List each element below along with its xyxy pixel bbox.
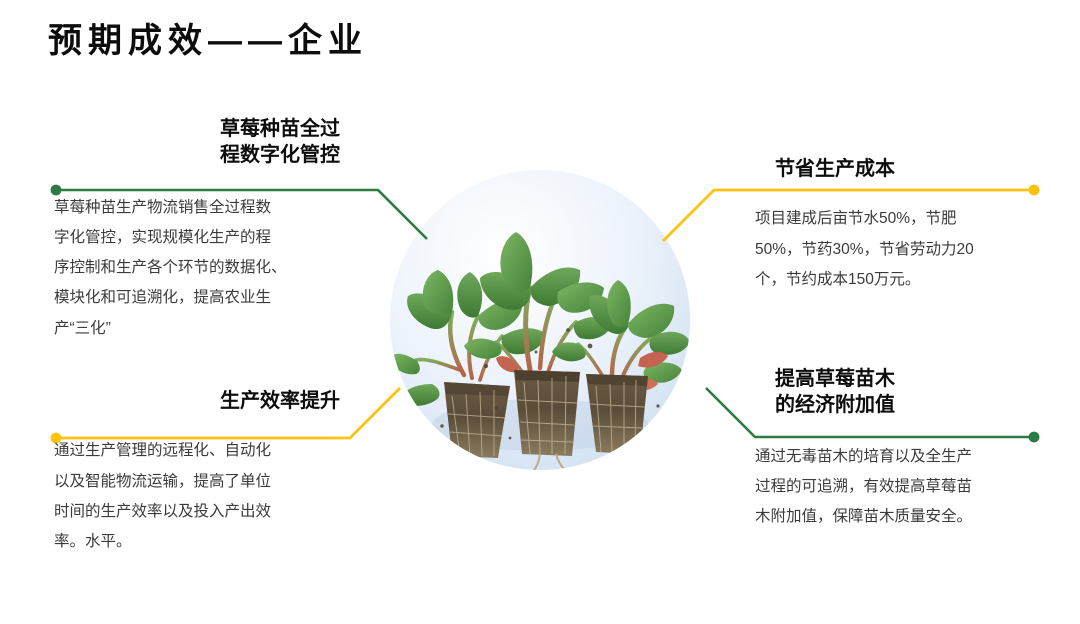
info-block-bottom-right: 提高草莓苗木 的经济附加值 通过无毒苗木的培育以及全生产 过程的可追溯，有效提高… [775, 366, 1065, 532]
block-body-bottom-left: 通过生产管理的远程化、自动化 以及智能物流运输，提高了单位 时间的生产效率以及投… [54, 436, 344, 557]
info-block-top-left: 草莓种苗全过 程数字化管控 草莓种苗生产物流销售全过程数 字化管控，实现规模化生… [48, 116, 340, 344]
block-body-top-right: 项目建成后亩节水50%，节肥 50%，节药30%，节省劳动力20 个，节约成本1… [755, 204, 1060, 295]
block-heading-bottom-left: 生产效率提升 [48, 388, 340, 414]
seedlings-illustration [390, 170, 690, 470]
slide-canvas: 预期成效——企业 [0, 0, 1080, 624]
block-heading-bottom-right: 提高草莓苗木 的经济附加值 [775, 366, 1065, 419]
strawberry-seedlings-photo [390, 170, 690, 470]
block-body-bottom-right: 通过无毒苗木的培育以及全生产 过程的可追溯，有效提高草莓苗 木附加值，保障苗木质… [755, 442, 1060, 533]
info-block-bottom-left: 生产效率提升 通过生产管理的远程化、自动化 以及智能物流运输，提高了单位 时间的… [48, 388, 340, 557]
block-heading-top-left: 草莓种苗全过 程数字化管控 [48, 116, 340, 169]
info-block-top-right: 节省生产成本 项目建成后亩节水50%，节肥 50%，节药30%，节省劳动力20 … [775, 156, 1065, 295]
block-body-top-left: 草莓种苗生产物流销售全过程数 字化管控，实现规模化生产的程 序控制和生产各个环节… [54, 193, 344, 344]
block-heading-top-right: 节省生产成本 [775, 156, 1065, 182]
page-title: 预期成效——企业 [48, 20, 368, 63]
